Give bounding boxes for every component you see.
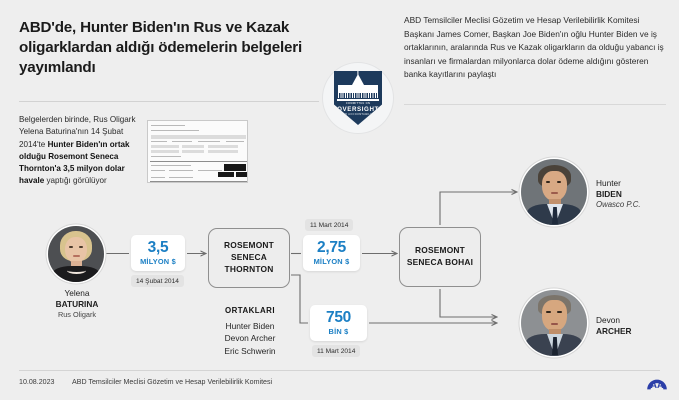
transfer-3-value: 750 (326, 310, 351, 326)
partners-heading: ORTAKLARI (198, 306, 302, 315)
transfer-1-unit: MİLYON $ (140, 257, 176, 266)
label-hunter-biden: Hunter BIDEN Owasco P.C. (596, 178, 641, 210)
label-devon-archer: Devon ARCHER (596, 315, 632, 337)
footer-date: 10.08.2023 (19, 378, 55, 386)
transfer-2-unit: MİLYON $ (314, 257, 350, 266)
avatar-yelena-baturina (48, 226, 104, 282)
anadolu-agency-logo: AA (645, 373, 669, 391)
hunter-company: Owasco P.C. (596, 200, 641, 210)
hunter-last-name: BIDEN (596, 189, 641, 200)
node-rosemont-seneca-bohai: ROSEMONT SENECA BOHAI (399, 227, 481, 287)
transfer-amount-3: 750 BİN $ (310, 305, 367, 341)
avatar-hunter-biden (521, 159, 587, 225)
transfer-1-date: 14 Şubat 2014 (131, 275, 184, 287)
transfer-2-date: 11 Mart 2014 (305, 219, 353, 231)
node-rosemont-seneca-thornton: ROSEMONT SENECA THORNTON (208, 228, 290, 288)
yelena-role: Rus Oligark (34, 310, 120, 319)
footer-divider (19, 370, 660, 371)
infographic-canvas: ABD'de, Hunter Biden'ın Rus ve Kazak oli… (0, 0, 679, 400)
transfer-1-value: 3,5 (148, 240, 169, 256)
avatar-devon-archer (521, 290, 587, 356)
yelena-last-name: BATURINA (34, 299, 120, 310)
devon-last-name: ARCHER (596, 326, 632, 337)
partners-block: ORTAKLARI Hunter Biden Devon Archer Eric… (198, 306, 302, 357)
partner-name-2: Devon Archer (198, 332, 302, 344)
yelena-first-name: Yelena (34, 288, 120, 299)
transfer-3-date: 11 Mart 2014 (312, 345, 360, 357)
transfer-amount-2: 2,75 MİLYON $ (303, 235, 360, 271)
hunter-first-name: Hunter (596, 178, 641, 189)
label-yelena-baturina: Yelena BATURINA Rus Oligark (34, 288, 120, 319)
partner-name-1: Hunter Biden (198, 320, 302, 332)
transfer-amount-1: 3,5 MİLYON $ (131, 235, 185, 271)
transfer-2-value: 2,75 (317, 240, 346, 256)
footer-source: ABD Temsilciler Meclisi Gözetim ve Hesap… (72, 378, 272, 386)
devon-first-name: Devon (596, 315, 632, 326)
svg-text:AA: AA (651, 380, 664, 390)
partner-name-3: Eric Schwerin (198, 345, 302, 357)
transfer-3-unit: BİN $ (329, 327, 349, 336)
